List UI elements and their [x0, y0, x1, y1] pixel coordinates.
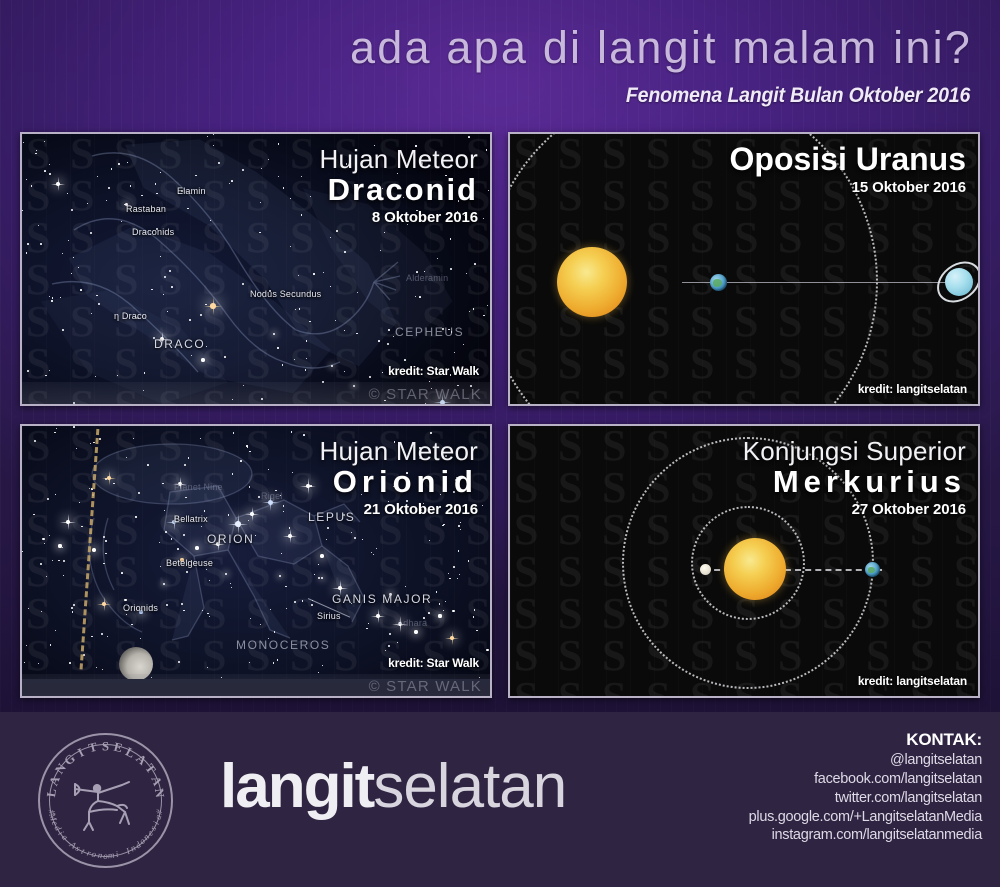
star [487, 305, 488, 306]
star [313, 273, 314, 274]
star [171, 286, 173, 288]
panel-credit: kredit: Star Walk [388, 364, 479, 378]
star [27, 243, 29, 245]
star-label: Adhara [397, 618, 427, 628]
star [73, 257, 74, 258]
star [283, 187, 284, 188]
star-spike [378, 609, 379, 623]
panel-date: 15 Oktober 2016 [730, 179, 967, 196]
earth-body [710, 274, 727, 291]
star [291, 431, 293, 433]
star [135, 516, 136, 517]
star-spike [68, 514, 69, 530]
star [318, 577, 320, 579]
panel-title-line2: Draconid [320, 172, 478, 208]
star-label: Planet Nine [174, 482, 223, 492]
page-subtitle: Fenomena Langit Bulan Oktober 2016 [626, 84, 970, 108]
star [336, 230, 338, 232]
star [44, 170, 46, 172]
panel-credit: kredit: langitselatan [858, 674, 967, 688]
star [242, 169, 244, 171]
page-title: ada apa di langit malam ini? [350, 22, 972, 74]
star [177, 548, 179, 550]
star [290, 198, 291, 199]
sun-body [724, 538, 786, 600]
panel-oposisi-uranus[interactable]: SSSSSSSSSSSSSSSSSSSSSSSSSSSSSSSSSSSSSSSS… [508, 132, 980, 406]
contact-title: KONTAK: [749, 730, 982, 750]
star-label: Draconids [132, 227, 174, 237]
star-label: Sirius [317, 611, 341, 621]
star [344, 330, 345, 331]
panel-title-line2: Orionid [320, 464, 478, 500]
star [92, 548, 96, 552]
star [443, 610, 444, 611]
star-spike [252, 507, 253, 521]
star [351, 532, 352, 533]
panel-date: 21 Oktober 2016 [320, 501, 478, 518]
star [458, 525, 460, 527]
star [91, 313, 92, 314]
panel-title-orionid: Hujan Meteor Orionid 21 Oktober 2016 [320, 436, 478, 518]
panel-draconid[interactable]: SSSSSSSSSSSSSSSSSSSSSSSSSSSSSSSSSSSSSSSS… [20, 132, 492, 406]
star [130, 185, 132, 187]
star [459, 574, 460, 575]
star [141, 195, 142, 196]
star [183, 534, 185, 536]
star [344, 251, 346, 253]
panel-title-line1: Konjungsi Superior [743, 436, 966, 467]
star-spike [308, 478, 309, 494]
earth-body [865, 562, 880, 577]
star-label: Elamin [177, 186, 206, 196]
star [292, 472, 293, 473]
star [210, 220, 211, 221]
star [326, 539, 327, 540]
poster-footer: LANGITSELATAN #Media Astronomi Indonesia… [0, 712, 1000, 887]
star [163, 294, 164, 295]
star [71, 273, 72, 274]
star [368, 623, 369, 624]
star [259, 232, 261, 234]
star [89, 488, 90, 489]
star [202, 610, 203, 611]
star-label: DRACO [154, 337, 205, 351]
sagittarius-archer-icon [67, 770, 145, 836]
star [49, 173, 51, 175]
star [268, 469, 269, 470]
star-spike [290, 529, 291, 543]
star [160, 256, 161, 257]
star [207, 667, 208, 668]
star [286, 608, 287, 609]
sun-body [557, 247, 627, 317]
panel-konjungsi-merkurius[interactable]: SSSSSSSSSSSSSSSSSSSSSSSSSSSSSSSSSSSSSSSS… [508, 424, 980, 698]
contact-list: @langitselatanfacebook.com/langitselatan… [749, 751, 982, 845]
star [458, 550, 460, 552]
star [260, 202, 261, 203]
star [106, 200, 107, 201]
star [397, 642, 398, 643]
infographic-poster: ada apa di langit malam ini? Fenomena La… [0, 0, 1000, 887]
star [99, 438, 101, 440]
poster-header: ada apa di langit malam ini? Fenomena La… [0, 0, 1000, 128]
star [159, 542, 160, 543]
star [301, 214, 302, 215]
star [51, 300, 52, 301]
star [450, 238, 452, 240]
star [201, 358, 205, 362]
star [90, 232, 92, 234]
star [330, 286, 331, 287]
star [207, 613, 209, 615]
star [231, 587, 232, 588]
star [404, 359, 406, 361]
panel-title-line1: Hujan Meteor [320, 144, 478, 175]
star [453, 566, 455, 568]
star [117, 375, 118, 376]
star [452, 610, 454, 612]
star [320, 554, 324, 558]
star [369, 376, 371, 378]
star [438, 614, 441, 617]
panel-title-uranus: Oposisi Uranus 15 Oktober 2016 [730, 144, 967, 196]
star [126, 614, 127, 615]
star-label: Alderamin [406, 273, 448, 283]
star [429, 540, 430, 541]
star [195, 546, 199, 550]
star [121, 572, 123, 574]
star [71, 209, 73, 211]
star [362, 539, 363, 540]
panel-title-line2: Oposisi Uranus [730, 141, 967, 178]
star [424, 271, 425, 272]
star [318, 672, 319, 673]
star [147, 464, 149, 466]
star [164, 510, 165, 511]
contact-line[interactable]: instagram.com/langitselatanmedia [749, 826, 982, 845]
star [105, 540, 107, 542]
star [213, 145, 214, 146]
star [483, 315, 484, 316]
panel-credit: kredit: Star Walk [388, 656, 479, 670]
star [428, 612, 430, 614]
star [40, 563, 42, 565]
starwalk-watermark: © STAR WALK [369, 386, 482, 403]
panel-title-line2: Merkurius [743, 464, 966, 500]
star-label: ORION [207, 532, 254, 546]
star [131, 624, 132, 625]
contact-line[interactable]: @langitselatan [749, 751, 982, 770]
star-label: GANIS MAJOR [332, 592, 432, 606]
star-label: Rastaban [126, 204, 166, 214]
star-spike [213, 297, 214, 316]
star-label: CEPHEUS [395, 325, 464, 339]
star [165, 531, 167, 533]
panel-date: 27 Oktober 2016 [743, 501, 966, 518]
star-label: Nodus Secundus [250, 289, 321, 299]
star [78, 267, 79, 268]
star [231, 180, 233, 182]
star [124, 599, 126, 601]
star [384, 232, 385, 233]
star [460, 522, 461, 523]
panel-credit: kredit: langitselatan [858, 382, 967, 396]
star [430, 432, 432, 434]
star [283, 505, 285, 507]
star [445, 601, 446, 602]
langitselatan-wordmark: langitselatan [220, 756, 566, 818]
star-label: Betelgeuse [166, 558, 213, 568]
star [322, 665, 323, 666]
star [388, 329, 390, 331]
star [62, 329, 64, 331]
star [58, 544, 61, 547]
star [69, 662, 71, 664]
star-spike [238, 514, 239, 533]
panel-title-line1: Hujan Meteor [320, 436, 478, 467]
star-spike [58, 177, 59, 192]
star [67, 193, 68, 194]
star [486, 649, 488, 651]
mercury-body [700, 564, 711, 575]
star [80, 289, 82, 291]
star [474, 263, 476, 265]
star-label: Orionids [123, 603, 158, 613]
star [68, 240, 69, 241]
star [414, 630, 417, 633]
star-label: Rigel [261, 491, 283, 501]
star [378, 340, 380, 342]
panel-date: 8 Oktober 2016 [320, 209, 478, 226]
contact-line[interactable]: plus.google.com/+LangitselatanMedia [749, 808, 982, 827]
star [419, 296, 421, 298]
contact-line[interactable]: twitter.com/langitselatan [749, 789, 982, 808]
star [24, 662, 25, 663]
star-label: Bellatrix [174, 514, 208, 524]
star [224, 356, 226, 358]
star-label: MONOCEROS [236, 638, 330, 652]
contact-block: KONTAK: @langitselatanfacebook.com/langi… [749, 730, 982, 845]
star-spike [104, 597, 105, 611]
star [240, 460, 242, 462]
star [79, 502, 80, 503]
wordmark-bold: langit [220, 752, 373, 821]
langitselatan-logo[interactable]: LANGITSELATAN #Media Astronomi Indonesia… [38, 733, 173, 868]
star [283, 511, 284, 512]
star-label: η Draco [114, 311, 147, 321]
contact-line[interactable]: facebook.com/langitselatan [749, 770, 982, 789]
panel-title-merkurius: Konjungsi Superior Merkurius 27 Oktober … [743, 436, 966, 518]
star [382, 372, 383, 373]
star [118, 163, 120, 165]
star [91, 636, 92, 637]
star [113, 483, 115, 485]
star [273, 662, 274, 663]
star [181, 603, 183, 605]
star [415, 296, 416, 297]
starwalk-watermark: © STAR WALK [369, 678, 482, 695]
panel-title-draconid: Hujan Meteor Draconid 8 Oktober 2016 [320, 144, 478, 226]
star [277, 347, 278, 348]
panel-orionid[interactable]: SSSSSSSSSSSSSSSSSSSSSSSSSSSSSSSSSSSSSSSS… [20, 424, 492, 698]
star [330, 237, 331, 238]
wordmark-light: selatan [373, 752, 566, 821]
star [318, 564, 319, 565]
star [166, 604, 168, 606]
star [47, 498, 49, 500]
star-spike [109, 471, 110, 485]
star [138, 492, 140, 494]
star [72, 611, 73, 612]
star [303, 434, 305, 436]
star-spike [452, 631, 453, 645]
star [436, 591, 437, 592]
